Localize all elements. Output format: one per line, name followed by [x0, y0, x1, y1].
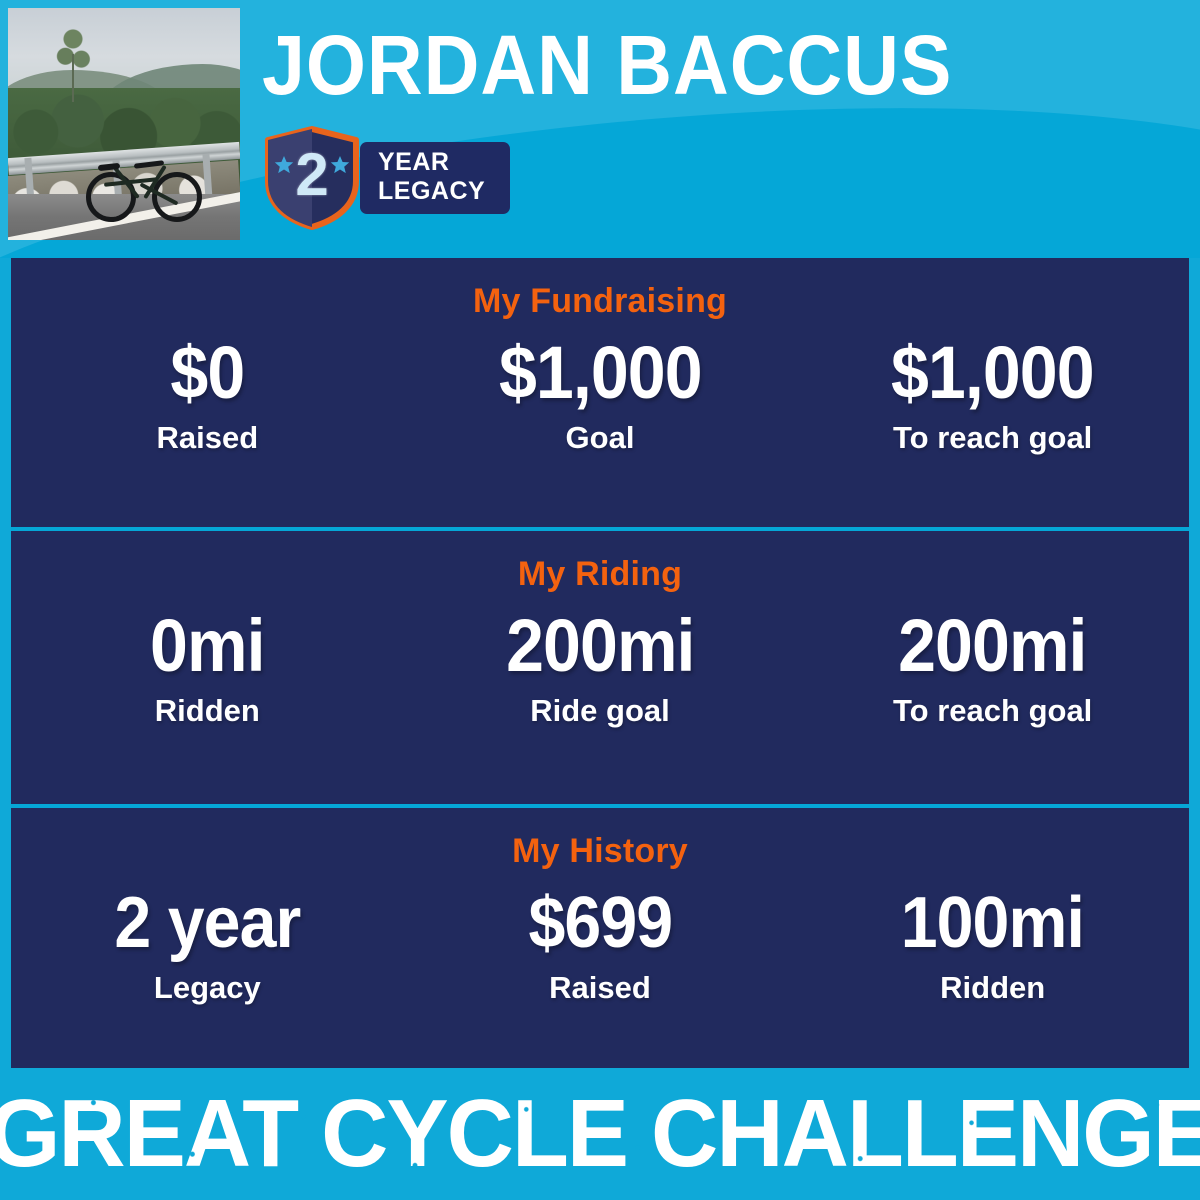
fundraiser-stats-card: JORDAN BACCUS YEAR LEGACY 2 My Fundraisi [0, 0, 1200, 1200]
header-banner: JORDAN BACCUS YEAR LEGACY 2 [0, 0, 1200, 258]
photo-sapling [54, 26, 92, 98]
section-title-fundraising: My Fundraising [11, 258, 1189, 318]
stat-history-raised: $699 Raised [404, 882, 797, 1006]
legacy-badge: YEAR LEGACY 2 [262, 126, 512, 230]
stat-value: 0mi [27, 605, 388, 687]
stats-row-fundraising: $0 Raised $1,000 Goal $1,000 To reach go… [11, 332, 1189, 456]
stat-value: $1,000 [419, 332, 780, 414]
avatar [8, 8, 240, 240]
stat-value: 200mi [812, 605, 1173, 687]
panel-riding: My Riding 0mi Ridden 200mi Ride goal 200… [11, 531, 1189, 804]
stat-label: Ridden [796, 970, 1189, 1006]
stat-ridden: 0mi Ridden [11, 605, 404, 729]
legacy-badge-line1: YEAR [378, 148, 510, 177]
stat-goal: $1,000 Goal [404, 332, 797, 456]
stat-label: To reach goal [796, 693, 1189, 729]
stat-value: $1,000 [812, 332, 1173, 414]
bike-handlebars [134, 160, 164, 169]
legacy-badge-plate-text: YEAR LEGACY [378, 148, 510, 206]
stat-raised: $0 Raised [11, 332, 404, 456]
stat-label: Ride goal [404, 693, 797, 729]
stat-ride-to-reach-goal: 200mi To reach goal [796, 605, 1189, 729]
panel-fundraising: My Fundraising $0 Raised $1,000 Goal $1,… [11, 258, 1189, 527]
bicycle-icon [86, 148, 206, 224]
stat-label: To reach goal [796, 420, 1189, 456]
stat-value: 100mi [812, 882, 1173, 964]
section-title-history: My History [11, 808, 1189, 868]
stats-panels: My Fundraising $0 Raised $1,000 Goal $1,… [11, 258, 1189, 1068]
legacy-badge-number: 2 [262, 126, 362, 230]
stat-ride-goal: 200mi Ride goal [404, 605, 797, 729]
stat-label: Ridden [11, 693, 404, 729]
stat-label: Legacy [11, 970, 404, 1006]
brand-wordmark: GREAT CYCLE CHALLENGE [0, 1084, 1200, 1184]
section-title-riding: My Riding [11, 531, 1189, 591]
panel-history: My History 2 year Legacy $699 Raised 100… [11, 808, 1189, 1076]
stat-value: $699 [419, 882, 780, 964]
stat-label: Goal [404, 420, 797, 456]
stat-value: 200mi [419, 605, 780, 687]
stat-value: 2 year [27, 882, 388, 964]
footer-brand-bar: GREAT CYCLE CHALLENGE [0, 1068, 1200, 1200]
stat-label: Raised [11, 420, 404, 456]
stats-row-history: 2 year Legacy $699 Raised 100mi Ridden [11, 882, 1189, 1006]
stat-value: $0 [27, 332, 388, 414]
page-title: JORDAN BACCUS [262, 18, 906, 112]
stat-history-ridden: 100mi Ridden [796, 882, 1189, 1006]
stats-row-riding: 0mi Ridden 200mi Ride goal 200mi To reac… [11, 605, 1189, 729]
stat-to-reach-goal: $1,000 To reach goal [796, 332, 1189, 456]
stat-legacy: 2 year Legacy [11, 882, 404, 1006]
legacy-badge-line2: LEGACY [378, 177, 510, 206]
stat-label: Raised [404, 970, 797, 1006]
